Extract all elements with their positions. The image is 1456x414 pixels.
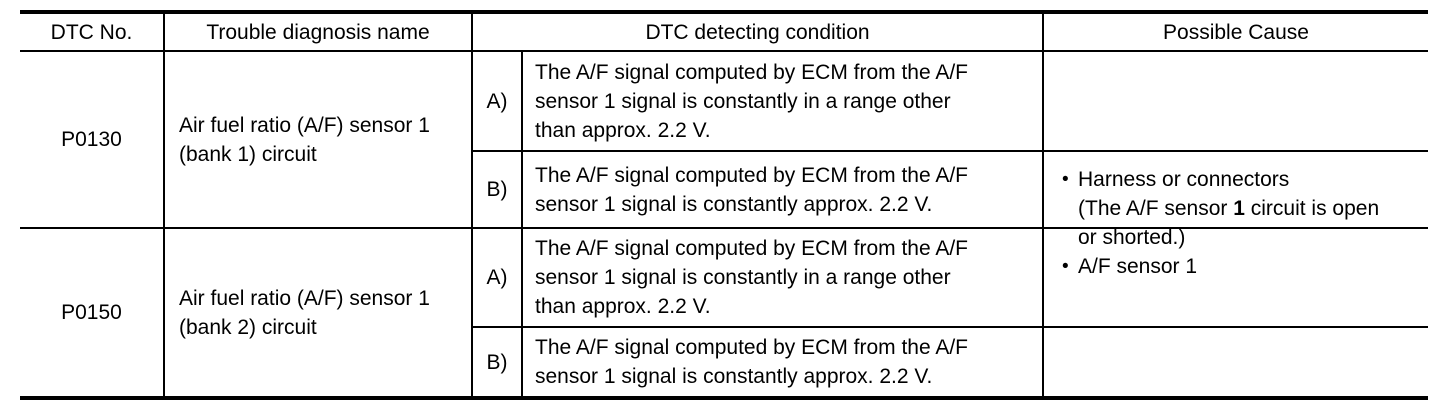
list-item: • Harness or connectors(The A/F sensor 1… xyxy=(1062,165,1428,252)
cell-trouble-name: Air fuel ratio (A/F) sensor 1 (bank 2) c… xyxy=(179,229,467,396)
document-page: DTC No. Trouble diagnosis name DTC detec… xyxy=(0,0,1456,414)
dtc-diagnosis-table: DTC No. Trouble diagnosis name DTC detec… xyxy=(20,10,1428,400)
possible-cause-item-1-line-2-pre: (The A/F sensor xyxy=(1078,197,1233,220)
cell-condition-label-b: B) xyxy=(473,152,521,227)
cell-condition-text-a: The A/F signal computed by ECM from the … xyxy=(535,229,1040,326)
cell-condition-label-b: B) xyxy=(473,328,521,396)
header-detecting-condition: DTC detecting condition xyxy=(473,14,1042,50)
table-bottom-border xyxy=(20,396,1428,400)
cell-possible-cause: • Harness or connectors(The A/F sensor 1… xyxy=(1044,50,1428,396)
possible-cause-item-1-line-3: or shorted.) xyxy=(1078,226,1185,249)
cell-condition-text-b: The A/F signal computed by ECM from the … xyxy=(535,328,1040,396)
possible-cause-item-1-line-1: Harness or connectors xyxy=(1078,168,1289,191)
possible-cause-item-1-text: Harness or connectors(The A/F sensor 1 c… xyxy=(1078,165,1428,252)
col-divider-dtc-no xyxy=(163,10,165,396)
bullet-icon: • xyxy=(1062,165,1078,194)
list-item: • A/F sensor 1 xyxy=(1062,252,1428,281)
header-possible-cause: Possible Cause xyxy=(1044,14,1428,50)
possible-cause-item-2-text: A/F sensor 1 xyxy=(1078,252,1428,281)
table-row: P0130 xyxy=(20,52,163,227)
cell-dtc-no: P0130 xyxy=(61,125,122,154)
table-row: P0150 xyxy=(20,229,163,396)
cell-dtc-no: P0150 xyxy=(61,298,122,327)
bullet-icon: • xyxy=(1062,252,1078,281)
possible-cause-item-1-line-2-post: circuit is open xyxy=(1245,197,1379,220)
cell-condition-text-b: The A/F signal computed by ECM from the … xyxy=(535,152,1040,227)
cell-condition-text-a: The A/F signal computed by ECM from the … xyxy=(535,52,1040,150)
possible-cause-item-1-line-2-emphasis: 1 xyxy=(1233,197,1245,220)
cell-condition-label-a: A) xyxy=(473,52,521,150)
header-dtc-no: DTC No. xyxy=(20,14,163,50)
cell-condition-label-a: A) xyxy=(473,229,521,326)
cell-trouble-name: Air fuel ratio (A/F) sensor 1 (bank 1) c… xyxy=(179,52,467,227)
header-trouble-name: Trouble diagnosis name xyxy=(165,14,471,50)
col-divider-condition-label xyxy=(521,50,523,396)
